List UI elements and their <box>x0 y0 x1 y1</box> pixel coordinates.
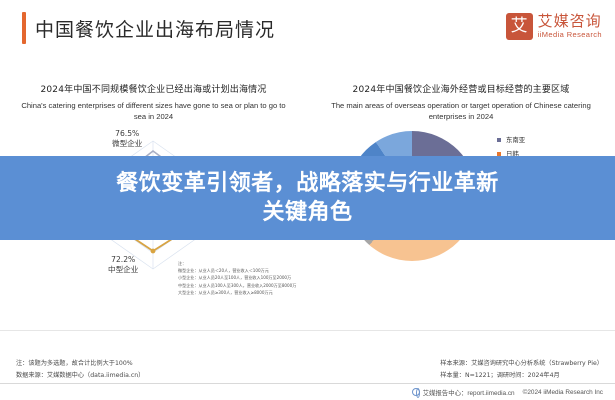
logo-name-cn: 艾媒咨询 <box>538 14 602 30</box>
globe-icon <box>412 388 420 396</box>
legend-swatch-icon <box>497 138 501 142</box>
logo-text: 艾媒咨询 iiMedia Research <box>538 14 602 39</box>
radar-value-micro: 76.5% <box>115 129 139 138</box>
logo-name-en: iiMedia Research <box>538 30 602 39</box>
left-chart-title: 2024年中国不同规模餐饮企业已经出海或计划出海情况 China's cater… <box>0 84 307 123</box>
title-accent-bar <box>22 12 26 44</box>
title-wrap: 中国餐饮企业出海布局情况 <box>22 12 275 44</box>
brand-logo: 艾 艾媒咨询 iiMedia Research <box>506 13 602 40</box>
footer-report-center[interactable]: 艾媒报告中心：report.iimedia.cn <box>412 388 515 397</box>
page-header: 中国餐饮企业出海布局情况 艾 艾媒咨询 iiMedia Research <box>0 0 615 62</box>
footer-notes-right: 样本来源：艾媒咨询研究中心分析系统（Strawberry Pie） 样本量：N=… <box>440 358 603 382</box>
footer-notes-left: 注：该题为多选题，故合计比例大于100% 数据来源：艾媒数据中心（data.ii… <box>16 358 144 382</box>
page-footer: 注：该题为多选题，故合计比例大于100% 数据来源：艾媒数据中心（data.ii… <box>0 330 615 400</box>
right-chart-title-en: The main areas of overseas operation or … <box>319 100 603 124</box>
radar-name-medium: 中型企业 <box>108 265 138 274</box>
radar-definition-note: 注：微型企业：从业人员＜20人，营业收入＜100万元小型企业：从业人员20人至1… <box>178 260 296 296</box>
footer-note-source: 数据来源：艾媒数据中心（data.iimedia.cn） <box>16 370 144 382</box>
footer-copyright: ©2024 iiMedia Research Inc <box>523 389 603 396</box>
left-chart-title-cn: 2024年中国不同规模餐饮企业已经出海或计划出海情况 <box>12 84 295 98</box>
footer-note-sample-size: 样本量：N=1221；调研时间：2024年4月 <box>440 370 603 382</box>
radar-label-medium: 72.2% 中型企业 <box>108 255 138 276</box>
legend-label: 东南亚 <box>506 137 525 143</box>
radar-value-medium: 72.2% <box>111 255 135 264</box>
headline-line-2: 关键角色 <box>262 200 352 225</box>
headline-banner: 餐饮变革引领者，战略落实与行业革新 关键角色 <box>0 156 615 240</box>
footer-bar: 艾媒报告中心：report.iimedia.cn ©2024 iiMedia R… <box>0 383 615 400</box>
right-chart-title: 2024年中国餐饮企业海外经营或目标经营的主要区域 The main areas… <box>307 84 615 123</box>
right-chart-title-cn: 2024年中国餐饮企业海外经营或目标经营的主要区域 <box>319 84 603 98</box>
page-title: 中国餐饮企业出海布局情况 <box>35 15 275 42</box>
radar-name-micro: 微型企业 <box>112 139 142 148</box>
headline-line-1: 餐饮变革引领者，战略落实与行业革新 <box>116 171 499 196</box>
footer-report-center-label: 艾媒报告中心：report.iimedia.cn <box>423 388 515 397</box>
radar-label-micro: 76.5% 微型企业 <box>112 129 142 150</box>
left-chart-title-en: China's catering enterprises of differen… <box>12 100 295 124</box>
logo-mark-icon: 艾 <box>506 13 533 40</box>
headline-text: 餐饮变革引领者，战略落实与行业革新 关键角色 <box>100 169 515 227</box>
legend-item[interactable]: 东南亚 <box>497 137 589 143</box>
footer-note-sample-source: 样本来源：艾媒咨询研究中心分析系统（Strawberry Pie） <box>440 358 603 370</box>
footer-note-multiselect: 注：该题为多选题，故合计比例大于100% <box>16 358 144 370</box>
